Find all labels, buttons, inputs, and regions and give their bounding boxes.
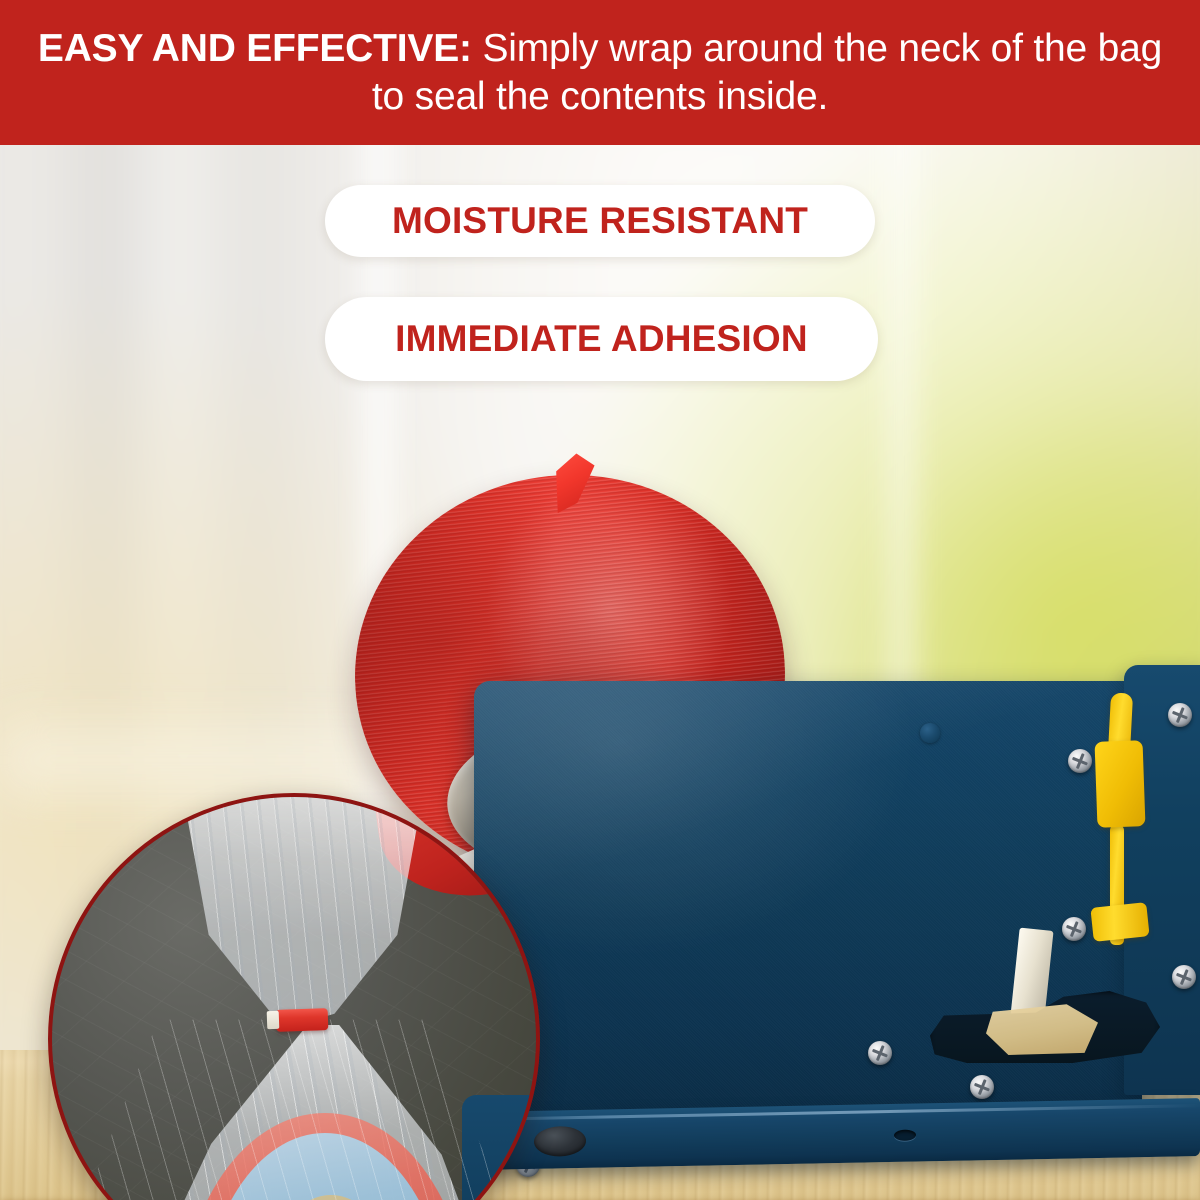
rivet-upper <box>920 723 940 743</box>
red-tape-seal-band <box>276 1008 329 1032</box>
headline-emphasis: EASY AND EFFECTIVE: <box>38 27 472 70</box>
feature-badge-moisture-resistant: MOISTURE RESISTANT <box>325 185 875 257</box>
headline-banner: EASY AND EFFECTIVE: Simply wrap around t… <box>0 0 1200 145</box>
screw-rear-bottom <box>1172 965 1196 989</box>
product-marketing-image: MADE IN TAIWAN <box>0 0 1200 1200</box>
rubber-foot <box>534 1126 586 1157</box>
base-plate <box>478 1098 1200 1170</box>
screw-lower-center <box>970 1075 994 1099</box>
sealed-bag-inset-photo <box>48 793 540 1200</box>
screw-upper-right <box>1068 749 1092 773</box>
screw-rear-top <box>1168 703 1192 727</box>
mounting-hole <box>894 1130 916 1141</box>
yellow-clip-lower <box>1090 902 1149 942</box>
feature-badge-immediate-adhesion: IMMEDIATE ADHESION <box>325 297 878 381</box>
headline-text: EASY AND EFFECTIVE: Simply wrap around t… <box>28 25 1172 120</box>
screw-middle-right <box>1062 917 1086 941</box>
inset-dispenser-peek <box>462 1095 540 1200</box>
screw-lower-left <box>868 1041 892 1065</box>
yellow-clip-middle <box>1095 740 1146 828</box>
headline-body: Simply wrap around the neck of the bag t… <box>372 27 1162 118</box>
